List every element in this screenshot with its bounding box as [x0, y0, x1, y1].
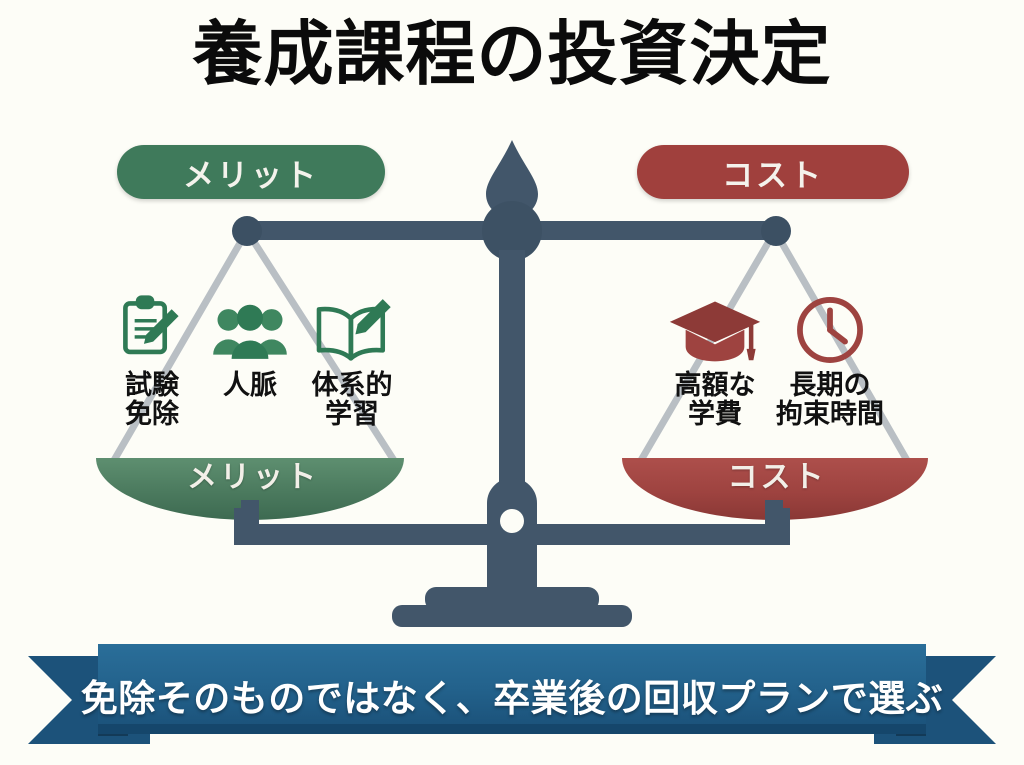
merit-item-study: 体系的 学習 — [292, 287, 412, 429]
pivot-block — [487, 478, 537, 598]
pan-label-merit: メリット — [103, 452, 403, 496]
cost-item-time: 長期の 拘束時間 — [770, 287, 890, 429]
beam-knob-left — [232, 216, 262, 246]
center-column — [499, 250, 525, 520]
badge-merit: メリット — [117, 145, 385, 199]
pan-stem-right — [765, 500, 783, 526]
balance-beam — [240, 221, 784, 240]
cost-item-time-label: 長期の 拘束時間 — [770, 371, 890, 429]
finial-neck — [505, 206, 519, 222]
ribbon-face-shadow — [98, 724, 926, 734]
cost-item-tuition-label: 高額な 学費 — [655, 371, 775, 429]
base-upper — [425, 587, 599, 611]
badge-cost: コスト — [637, 145, 909, 199]
beam-knob-right — [761, 216, 791, 246]
finial-icon — [486, 140, 538, 218]
badge-cost-label: コスト — [722, 150, 824, 195]
pan-label-cost: コスト — [627, 452, 927, 496]
lower-crossbar — [234, 508, 790, 545]
infographic-canvas: 養成課程の投資決定 メリット コスト — [0, 0, 1024, 765]
merit-item-study-label: 体系的 学習 — [292, 371, 412, 429]
open-book-pencil-icon — [292, 287, 412, 367]
banner-text: 免除そのものではなく、卒業後の回収プランで選ぶ — [0, 668, 1024, 722]
page-title: 養成課程の投資決定 — [0, 18, 1024, 92]
graduation-cap-icon — [655, 287, 775, 367]
clock-icon — [770, 287, 890, 367]
cost-item-tuition: 高額な 学費 — [655, 287, 775, 429]
fulcrum-hub — [482, 201, 542, 261]
pan-stem-left — [241, 500, 259, 526]
pivot-hole — [500, 509, 524, 533]
badge-merit-label: メリット — [183, 150, 319, 195]
base-lower — [392, 605, 632, 627]
